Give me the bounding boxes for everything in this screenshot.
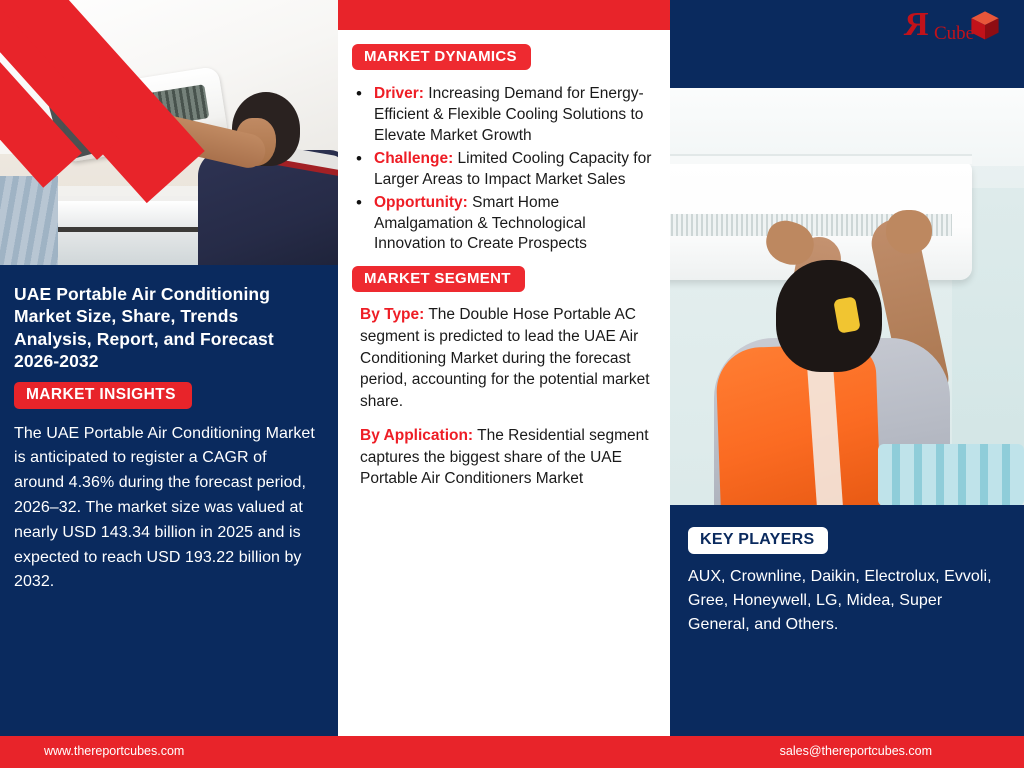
footer-bar: www.thereportcubes.com sales@thereportcu…: [0, 736, 1024, 768]
dynamics-label-opportunity: Opportunity:: [374, 194, 468, 211]
footer-email-link[interactable]: sales@thereportcubes.com: [780, 744, 932, 758]
segment-by-type: By Type: The Double Hose Portable AC seg…: [352, 304, 660, 412]
market-segment-badge: MARKET SEGMENT: [352, 266, 525, 292]
middle-red-header-bar: [338, 0, 670, 30]
worker-right-hand: [886, 210, 932, 254]
market-segment-section: MARKET SEGMENT By Type: The Double Hose …: [352, 266, 660, 490]
curtain-left: [0, 176, 58, 265]
market-dynamics-badge: MARKET DYNAMICS: [352, 44, 531, 70]
tool-tray: [878, 444, 1024, 505]
middle-content: MARKET DYNAMICS Driver: Increasing Deman…: [338, 30, 670, 736]
page-title: UAE Portable Air Conditioning Market Siz…: [14, 283, 316, 373]
brand-logo: R Cube: [904, 6, 1000, 50]
cube-icon: [968, 8, 1002, 42]
right-photo: [670, 88, 1024, 505]
dynamics-label-driver: Driver:: [374, 85, 424, 102]
left-column: UAE Portable Air Conditioning Market Siz…: [0, 0, 338, 736]
key-players-badge: KEY PLAYERS: [688, 527, 828, 554]
market-insights-badge: MARKET INSIGHTS: [14, 382, 192, 409]
worker-head: [776, 260, 882, 372]
list-item: Opportunity: Smart Home Amalgamation & T…: [352, 193, 660, 256]
right-text-block: KEY PLAYERS AUX, Crownline, Daikin, Elec…: [670, 505, 1024, 637]
logo-mirrored-r-glyph: R: [904, 8, 929, 42]
segment-by-application: By Application: The Residential segment …: [352, 425, 660, 490]
ac-lower-lip: [670, 154, 972, 164]
infographic-poster: UAE Portable Air Conditioning Market Siz…: [0, 0, 1024, 768]
market-dynamics-list: Driver: Increasing Demand for Energy-Eff…: [352, 84, 660, 255]
segment-label-by-type: By Type:: [360, 306, 424, 323]
segment-label-by-application: By Application:: [360, 427, 473, 444]
left-photo: [0, 0, 338, 265]
footer-website-link[interactable]: www.thereportcubes.com: [44, 744, 184, 758]
dynamics-label-challenge: Challenge:: [374, 150, 453, 167]
middle-column: MARKET DYNAMICS Driver: Increasing Deman…: [338, 0, 670, 736]
market-insights-body: The UAE Portable Air Conditioning Market…: [14, 422, 316, 596]
list-item: Driver: Increasing Demand for Energy-Eff…: [352, 84, 660, 147]
left-text-block: UAE Portable Air Conditioning Market Siz…: [0, 265, 338, 736]
right-column: KEY PLAYERS AUX, Crownline, Daikin, Elec…: [670, 0, 1024, 736]
key-players-list: AUX, Crownline, Daikin, Electrolux, Evvo…: [688, 565, 1006, 637]
list-item: Challenge: Limited Cooling Capacity for …: [352, 149, 660, 191]
